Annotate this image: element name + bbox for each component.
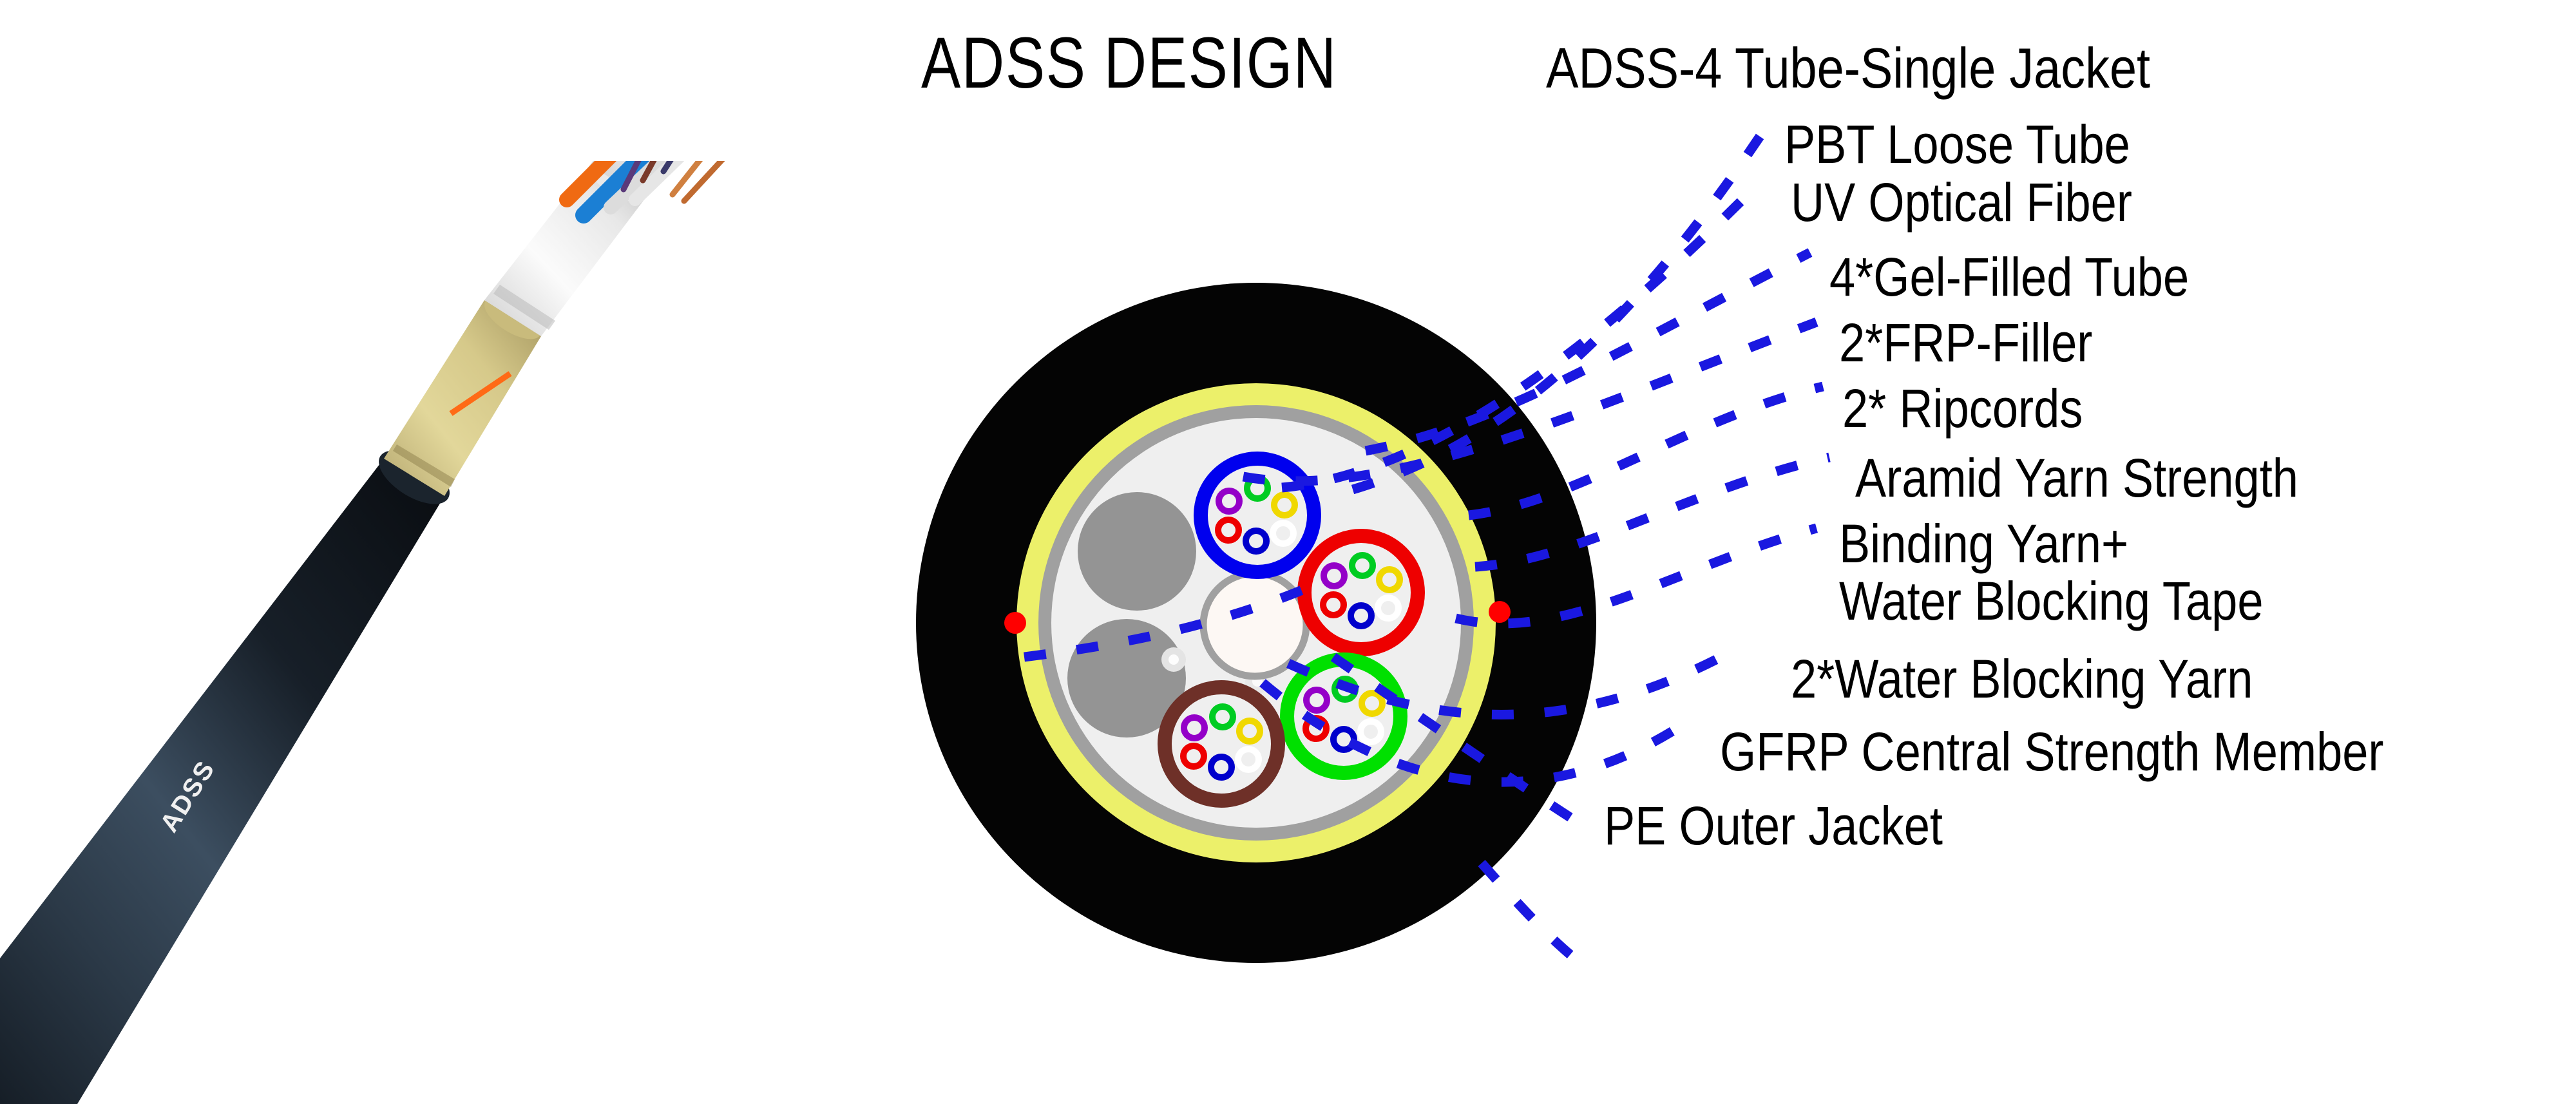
loose-tube-green xyxy=(1287,660,1400,773)
callout-pbt-loose-tube: PBT Loose Tube xyxy=(1784,117,2130,173)
frp-filler-upper xyxy=(1078,492,1196,611)
ripcord-right xyxy=(1489,601,1511,623)
loose-tube-red xyxy=(1304,536,1418,649)
page-subtitle: ADSS-4 Tube-Single Jacket xyxy=(1546,40,2150,97)
ripcord-left xyxy=(1004,612,1026,634)
callout-water-blocking-yarn: 2*Water Blocking Yarn xyxy=(1791,652,2253,707)
callout-binding-yarn-wb-tape: Binding Yarn+ Water Blocking Tape xyxy=(1839,515,2264,630)
callout-pe-outer-jacket: PE Outer Jacket xyxy=(1604,799,1943,854)
callout-gfrp-central-strength: GFRP Central Strength Member xyxy=(1720,725,2383,780)
page-title: ADSS DESIGN xyxy=(921,27,1337,99)
loose-tube-brown xyxy=(1165,687,1278,801)
photo-outer-jacket xyxy=(0,440,458,1104)
gfrp-central-strength-member xyxy=(1203,573,1306,676)
loose-tube-blue xyxy=(1201,459,1314,572)
callout-uv-optical-fiber: UV Optical Fiber xyxy=(1791,175,2132,231)
callout-frp-filler: 2*FRP-Filler xyxy=(1839,316,2092,371)
callout-ripcords: 2* Ripcords xyxy=(1842,381,2083,437)
adss-design-figure: ADSS DESIGN ADSS-4 Tube-Single Jacket xyxy=(0,0,2576,1104)
water-blocking-yarn-upper-core xyxy=(1169,654,1179,665)
callout-gel-filled-tube: 4*Gel-Filled Tube xyxy=(1829,250,2189,305)
cable-cross-section xyxy=(889,258,1623,992)
callout-aramid-yarn-strength: Aramid Yarn Strength xyxy=(1855,451,2298,506)
adss-cable-photo: ADSS ADSS xyxy=(0,161,902,1104)
